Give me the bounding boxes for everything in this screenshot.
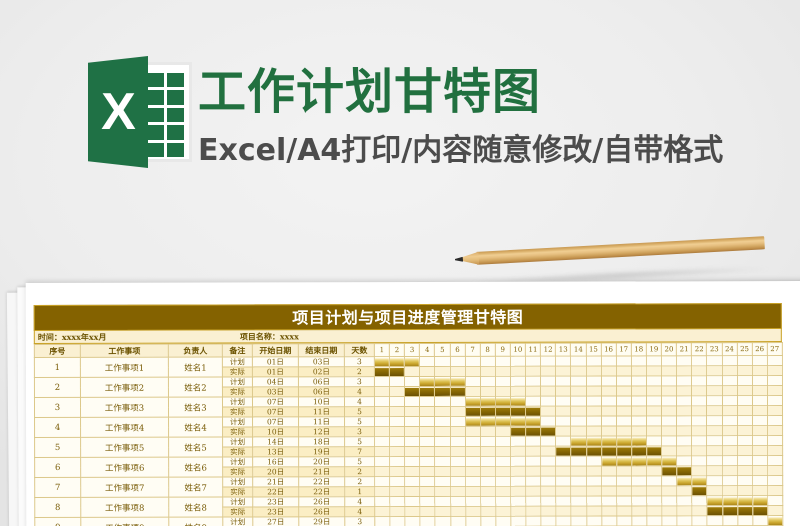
plan-bar-segment (481, 417, 495, 425)
gantt-cell-r6-d25 (737, 466, 752, 476)
gantt-cell-r4-d2 (390, 427, 405, 437)
cell-kind: 计划 (223, 457, 253, 467)
actual-bar-segment (708, 507, 722, 515)
cell-start: 04日 (252, 377, 298, 387)
gantt-cell-r8-d23 (707, 496, 722, 506)
gantt-cell-r4-d6 (450, 416, 465, 426)
gantt-cell-r8-d13 (556, 496, 571, 506)
gantt-cell-r1-d26 (752, 356, 767, 366)
cell-kind: 实际 (223, 507, 253, 517)
gantt-cell-r4-d13 (556, 426, 571, 436)
gantt-cell-r6-d12 (541, 456, 556, 466)
gantt-cell-r8-d13 (556, 506, 571, 516)
gantt-cell-r2-d2 (390, 377, 405, 387)
gantt-cell-r4-d12 (541, 416, 556, 426)
excel-grid-cell (146, 108, 164, 122)
excel-cell-grid (146, 73, 184, 157)
gantt-cell-r4-d1 (375, 427, 390, 437)
cell-start: 23日 (253, 507, 299, 517)
gantt-cell-r6-d13 (556, 466, 571, 476)
gantt-cell-r1-d24 (722, 356, 737, 366)
cell-task: 工作事项2 (80, 377, 168, 397)
meta-time-label: 时间：xxxx年xx月 (38, 332, 107, 343)
gantt-cell-r7-d23 (707, 486, 722, 496)
gantt-cell-r8-d20 (662, 496, 677, 506)
gantt-cell-r5-d14 (571, 436, 586, 446)
gantt-cell-r3-d5 (435, 406, 450, 416)
gantt-cell-r8-d19 (647, 506, 662, 516)
plan-bar-segment (496, 417, 510, 425)
gantt-cell-r5-d24 (722, 446, 737, 456)
gantt-cell-r8-d4 (420, 506, 435, 516)
gantt-cell-r4-d5 (435, 416, 450, 426)
cell-end: 02日 (298, 367, 344, 377)
gantt-cell-r5-d6 (450, 436, 465, 446)
gantt-cell-r1-d8 (480, 366, 495, 376)
gantt-cell-r1-d17 (616, 356, 631, 366)
gantt-cell-r8-d8 (481, 496, 496, 506)
gantt-cell-r5-d6 (450, 446, 465, 456)
pencil-sharpened-wood (461, 252, 480, 266)
cell-index: 9 (35, 517, 81, 526)
gantt-cell-r7-d23 (707, 476, 722, 486)
actual-bar-segment (435, 387, 449, 395)
gantt-cell-r6-d2 (390, 467, 405, 477)
gantt-cell-r9-d5 (435, 516, 450, 526)
gantt-cell-r3-d15 (586, 406, 601, 416)
gantt-cell-r6-d1 (375, 457, 390, 467)
cell-start: 10日 (253, 427, 299, 437)
gantt-cell-r1-d16 (601, 366, 616, 376)
gantt-cell-r5-d16 (601, 446, 616, 456)
gantt-cell-r2-d27 (767, 376, 782, 386)
gantt-cell-r3-d7 (465, 406, 480, 416)
gantt-cell-r9-d20 (662, 516, 677, 526)
gantt-cell-r2-d17 (616, 376, 631, 386)
gantt-cell-r7-d26 (752, 486, 767, 496)
gantt-cell-r4-d5 (435, 426, 450, 436)
gantt-cell-r1-d6 (450, 366, 465, 376)
gantt-cell-r9-d27 (768, 516, 783, 526)
gantt-cell-r6-d9 (496, 466, 511, 476)
gantt-cell-r4-d27 (767, 426, 782, 436)
gantt-cell-r7-d7 (465, 486, 480, 496)
gantt-cell-r8-d3 (405, 507, 420, 517)
cell-kind: 计划 (223, 417, 253, 427)
gantt-cell-r3-d17 (616, 406, 631, 416)
excel-grid-cell (167, 108, 185, 122)
gantt-cell-r4-d25 (737, 426, 752, 436)
excel-grid-cell (167, 125, 185, 139)
gantt-cell-r9-d25 (737, 516, 752, 526)
actual-bar-segment (662, 467, 676, 475)
gantt-cell-r9-d8 (481, 516, 496, 526)
gantt-cell-r5-d4 (420, 436, 435, 446)
cell-end: 03日 (298, 357, 344, 367)
gantt-cell-r7-d8 (480, 476, 495, 486)
col-header-end: 结束日期 (298, 344, 344, 357)
gantt-cell-r8-d25 (737, 496, 752, 506)
gantt-cell-r4-d13 (556, 416, 571, 426)
gantt-cell-r2-d5 (435, 376, 450, 386)
gantt-cell-r8-d18 (632, 496, 647, 506)
cell-end: 20日 (299, 457, 345, 467)
gantt-cell-r6-d24 (722, 456, 737, 466)
cell-kind: 实际 (223, 487, 253, 497)
col-header-index: 序号 (34, 344, 80, 357)
gantt-cell-r5-d27 (767, 446, 782, 456)
gantt-cell-r5-d26 (752, 436, 767, 446)
cell-start: 14日 (253, 437, 299, 447)
gantt-cell-r4-d18 (631, 416, 646, 426)
gantt-cell-r2-d24 (722, 386, 737, 396)
gantt-cell-r5-d1 (375, 447, 390, 457)
cell-start: 22日 (253, 487, 299, 497)
gantt-cell-r1-d26 (752, 366, 767, 376)
gantt-cell-r8-d12 (541, 496, 556, 506)
col-header-day-6: 6 (450, 343, 465, 356)
cell-end: 18日 (299, 437, 345, 447)
cell-end: 21日 (299, 467, 345, 477)
gantt-cell-r3-d26 (752, 406, 767, 416)
cell-start: 23日 (253, 497, 299, 507)
gantt-cell-r2-d17 (616, 386, 631, 396)
cell-kind: 实际 (223, 407, 253, 417)
gantt-cell-r8-d9 (496, 506, 511, 516)
gantt-cell-r4-d17 (616, 426, 631, 436)
excel-logo-icon: X (88, 56, 192, 168)
gantt-cell-r6-d20 (662, 456, 677, 466)
cell-kind: 实际 (223, 427, 253, 437)
gantt-cell-r7-d18 (632, 476, 647, 486)
gantt-cell-r3-d12 (541, 396, 556, 406)
gantt-cell-r4-d20 (662, 416, 677, 426)
excel-grid-cell (167, 143, 185, 157)
gantt-cell-r4-d9 (495, 416, 510, 426)
gantt-cell-r2-d8 (480, 376, 495, 386)
gantt-cell-r2-d13 (556, 386, 571, 396)
gantt-cell-r3-d27 (767, 396, 782, 406)
gantt-cell-r5-d14 (571, 446, 586, 456)
cell-end: 26日 (299, 507, 345, 517)
gantt-cell-r6-d7 (465, 466, 480, 476)
cell-end: 19日 (299, 447, 345, 457)
gantt-cell-r6-d18 (632, 466, 647, 476)
cell-owner: 姓名6 (169, 457, 223, 477)
gantt-cell-r6-d18 (631, 456, 646, 466)
plan-bar-segment (647, 457, 661, 465)
gantt-cell-r9-d6 (450, 516, 465, 526)
cell-start: 16日 (253, 457, 299, 467)
gantt-cell-r8-d1 (375, 497, 390, 507)
cell-index: 8 (35, 497, 81, 517)
plan-bar-segment (435, 377, 449, 385)
gantt-cell-r4-d19 (646, 416, 661, 426)
gantt-cell-r1-d12 (541, 366, 556, 376)
actual-bar-segment (693, 487, 707, 495)
cell-kind: 实际 (222, 387, 252, 397)
cell-end: 22日 (299, 487, 345, 497)
col-header-day-2: 2 (389, 344, 404, 357)
gantt-cell-r1-d9 (495, 356, 510, 366)
gantt-cell-r1-d17 (616, 366, 631, 376)
gantt-cell-r7-d7 (465, 476, 480, 486)
gantt-cell-r5-d11 (526, 446, 541, 456)
cell-end: 26日 (299, 497, 345, 507)
gantt-cell-r7-d11 (526, 476, 541, 486)
gantt-cell-r3-d22 (692, 396, 707, 406)
cell-end: 12日 (299, 427, 345, 437)
cell-days: 2 (344, 367, 374, 377)
gantt-cell-r2-d4 (420, 376, 435, 386)
gantt-cell-r7-d12 (541, 486, 556, 496)
gantt-cell-r7-d25 (737, 476, 752, 486)
cell-task: 工作事项1 (80, 357, 168, 377)
pencil-graphite-tip (455, 257, 463, 262)
gantt-cell-r6-d9 (496, 456, 511, 466)
gantt-cell-r2-d26 (752, 376, 767, 386)
gantt-cell-r3-d14 (571, 406, 586, 416)
gantt-cell-r1-d10 (510, 356, 525, 366)
gantt-cell-r5-d9 (495, 446, 510, 456)
gantt-cell-r1-d16 (601, 356, 616, 366)
gantt-cell-r1-d21 (677, 356, 692, 366)
gantt-cell-r9-d3 (405, 517, 420, 526)
cell-end: 22日 (299, 477, 345, 487)
plan-bar-segment (526, 417, 540, 425)
gantt-cell-r1-d19 (646, 356, 661, 366)
gantt-cell-r8-d16 (601, 506, 616, 516)
actual-bar-segment (390, 368, 404, 376)
col-header-note: 备注 (222, 344, 252, 357)
col-header-day-12: 12 (541, 343, 556, 356)
cell-end: 29日 (299, 517, 345, 526)
gantt-cell-r4-d16 (601, 416, 616, 426)
gantt-cell-r4-d26 (752, 416, 767, 426)
gantt-cell-r7-d22 (692, 486, 707, 496)
gantt-cell-r6-d15 (586, 456, 601, 466)
gantt-cell-r8-d10 (511, 496, 526, 506)
gantt-cell-r3-d20 (662, 396, 677, 406)
gantt-cell-r3-d16 (601, 406, 616, 416)
plan-bar-segment (390, 358, 404, 366)
col-header-day-23: 23 (707, 343, 722, 356)
gantt-cell-r3-d22 (692, 406, 707, 416)
cell-days: 2 (345, 467, 375, 477)
gantt-cell-r1-d3 (405, 357, 420, 367)
gantt-cell-r8-d8 (481, 506, 496, 516)
gantt-cell-r8-d24 (722, 496, 737, 506)
cell-owner: 姓名3 (168, 397, 222, 417)
cell-index: 2 (34, 377, 80, 397)
gantt-cell-r4-d6 (450, 426, 465, 436)
actual-bar-segment (450, 387, 464, 395)
gantt-cell-r8-d27 (768, 496, 783, 506)
gantt-cell-r6-d1 (375, 467, 390, 477)
gantt-cell-r3-d9 (495, 406, 510, 416)
gantt-cell-r7-d2 (390, 477, 405, 487)
gantt-cell-r9-d23 (707, 516, 722, 526)
gantt-cell-r3-d11 (526, 396, 541, 406)
gantt-cell-r8-d7 (465, 496, 480, 506)
plan-bar-segment (420, 377, 434, 385)
gantt-cell-r7-d14 (571, 486, 586, 496)
cell-start: 01日 (252, 367, 298, 377)
gantt-cell-r3-d8 (480, 396, 495, 406)
gantt-cell-r2-d20 (662, 376, 677, 386)
gantt-cell-r8-d6 (450, 506, 465, 516)
cell-kind: 计划 (222, 377, 252, 387)
cell-days: 3 (344, 357, 374, 367)
gantt-cell-r1-d7 (465, 356, 480, 366)
cell-kind: 计划 (223, 517, 253, 526)
gantt-cell-r5-d3 (405, 437, 420, 447)
plan-bar-segment (738, 497, 752, 505)
gantt-cell-r5-d8 (480, 446, 495, 456)
cell-task: 工作事项5 (81, 437, 169, 457)
gantt-table-body: 1工作事项1姓名1计划01日03日3实际01日02日22工作事项2姓名2计划04… (34, 356, 782, 526)
gantt-cell-r3-d20 (662, 406, 677, 416)
cell-start: 21日 (253, 477, 299, 487)
gantt-cell-r2-d23 (707, 386, 722, 396)
gantt-cell-r8-d17 (616, 496, 631, 506)
gantt-cell-r6-d5 (435, 466, 450, 476)
gantt-cell-r5-d19 (647, 446, 662, 456)
gantt-cell-r5-d13 (556, 446, 571, 456)
gantt-cell-r7-d24 (722, 486, 737, 496)
gantt-cell-r2-d1 (374, 377, 389, 387)
gantt-cell-r3-d12 (541, 406, 556, 416)
gantt-cell-r8-d6 (450, 496, 465, 506)
gantt-cell-r5-d15 (586, 446, 601, 456)
cell-task: 工作事项6 (81, 457, 169, 477)
gantt-cell-r8-d15 (586, 496, 601, 506)
excel-logo-letter: X (88, 56, 148, 168)
gantt-cell-r8-d9 (496, 496, 511, 506)
gantt-cell-r7-d9 (496, 486, 511, 496)
gantt-cell-r2-d14 (571, 386, 586, 396)
cell-days: 4 (344, 397, 374, 407)
gantt-title: 项目计划与项目进度管理甘特图 (34, 303, 782, 331)
gantt-cell-r5-d25 (737, 436, 752, 446)
gantt-cell-r1-d5 (435, 356, 450, 366)
gantt-cell-r6-d17 (616, 466, 631, 476)
gantt-table: 序号 工作事项 负责人 备注 开始日期 结束日期 天数 123456789101… (34, 342, 784, 526)
gantt-cell-r2-d6 (450, 386, 465, 396)
gantt-cell-r1-d4 (420, 356, 435, 366)
gantt-cell-r7-d1 (375, 477, 390, 487)
gantt-cell-r5-d22 (692, 446, 707, 456)
gantt-cell-r7-d20 (662, 486, 677, 496)
gantt-cell-r4-d3 (405, 417, 420, 427)
plan-bar-segment (768, 517, 782, 525)
gantt-cell-r3-d7 (465, 396, 480, 406)
gantt-cell-r9-d12 (541, 516, 556, 526)
gantt-cell-r4-d15 (586, 416, 601, 426)
gantt-cell-r3-d16 (601, 396, 616, 406)
gantt-cell-r9-d15 (586, 516, 601, 526)
gantt-cell-r2-d8 (480, 386, 495, 396)
gantt-cell-r5-d27 (767, 436, 782, 446)
gantt-cell-r5-d21 (677, 446, 692, 456)
gantt-cell-r9-d21 (677, 516, 692, 526)
table-row: 9工作事项9姓名9计划27日29日3 (35, 516, 783, 526)
plan-bar-segment (602, 437, 616, 445)
gantt-cell-r5-d3 (405, 447, 420, 457)
gantt-cell-r2-d25 (737, 386, 752, 396)
gantt-cell-r2-d12 (541, 386, 556, 396)
gantt-cell-r9-d22 (692, 516, 707, 526)
gantt-cell-r8-d18 (632, 506, 647, 516)
cell-index: 5 (35, 437, 81, 457)
plan-bar-segment (617, 457, 631, 465)
plan-bar-segment (511, 417, 525, 425)
gantt-cell-r4-d10 (511, 426, 526, 436)
gantt-cell-r7-d15 (586, 476, 601, 486)
screenshot-root: X 工作计划甘特图 Excel/A4打印/内容随意修改/自带格式 项目计划与项目… (0, 0, 800, 526)
actual-bar-segment (723, 507, 737, 515)
gantt-cell-r1-d25 (737, 356, 752, 366)
gantt-cell-r3-d25 (737, 396, 752, 406)
col-header-day-15: 15 (586, 343, 601, 356)
col-header-day-7: 7 (465, 343, 480, 356)
gantt-cell-r2-d12 (541, 376, 556, 386)
gantt-cell-r8-d5 (435, 506, 450, 516)
gantt-cell-r3-d19 (646, 396, 661, 406)
gantt-document: 项目计划与项目进度管理甘特图 时间：xxxx年xx月 项目名称：xxxx 序号 … (34, 303, 783, 526)
plan-bar-segment (677, 477, 691, 485)
cell-owner: 姓名1 (168, 357, 222, 377)
gantt-cell-r4-d1 (375, 417, 390, 427)
cell-days: 5 (345, 417, 375, 427)
gantt-cell-r8-d27 (768, 506, 783, 516)
cell-index: 3 (34, 397, 80, 417)
gantt-cell-r3-d18 (631, 396, 646, 406)
gantt-cell-r4-d2 (390, 417, 405, 427)
gantt-cell-r1-d24 (722, 366, 737, 376)
gantt-cell-r5-d20 (662, 436, 677, 446)
gantt-cell-r3-d13 (556, 396, 571, 406)
col-header-days: 天数 (344, 344, 374, 357)
gantt-cell-r9-d11 (526, 516, 541, 526)
gantt-cell-r6-d14 (571, 466, 586, 476)
col-header-day-19: 19 (646, 343, 661, 356)
gantt-meta-row: 时间：xxxx年xx月 项目名称：xxxx (34, 329, 782, 344)
gantt-cell-r7-d15 (586, 486, 601, 496)
cell-kind: 实际 (222, 367, 252, 377)
gantt-cell-r2-d15 (586, 376, 601, 386)
gantt-cell-r1-d25 (737, 366, 752, 376)
gantt-cell-r8-d16 (601, 496, 616, 506)
gantt-cell-r5-d18 (631, 436, 646, 446)
gantt-cell-r5-d5 (435, 436, 450, 446)
gantt-cell-r6-d21 (677, 466, 692, 476)
gantt-cell-r7-d5 (435, 476, 450, 486)
gantt-cell-r8-d7 (465, 506, 480, 516)
gantt-cell-r5-d25 (737, 446, 752, 456)
gantt-cell-r5-d23 (707, 446, 722, 456)
plan-bar-segment (466, 397, 480, 405)
excel-grid-cell (146, 143, 164, 157)
col-header-day-3: 3 (405, 344, 420, 357)
gantt-cell-r7-d3 (405, 477, 420, 487)
meta-project-label: 项目名称：xxxx (240, 331, 299, 342)
cell-start: 07日 (253, 417, 299, 427)
col-header-owner: 负责人 (168, 344, 222, 357)
col-header-day-5: 5 (435, 343, 450, 356)
gantt-cell-r6-d16 (601, 466, 616, 476)
plan-bar-segment (496, 397, 510, 405)
